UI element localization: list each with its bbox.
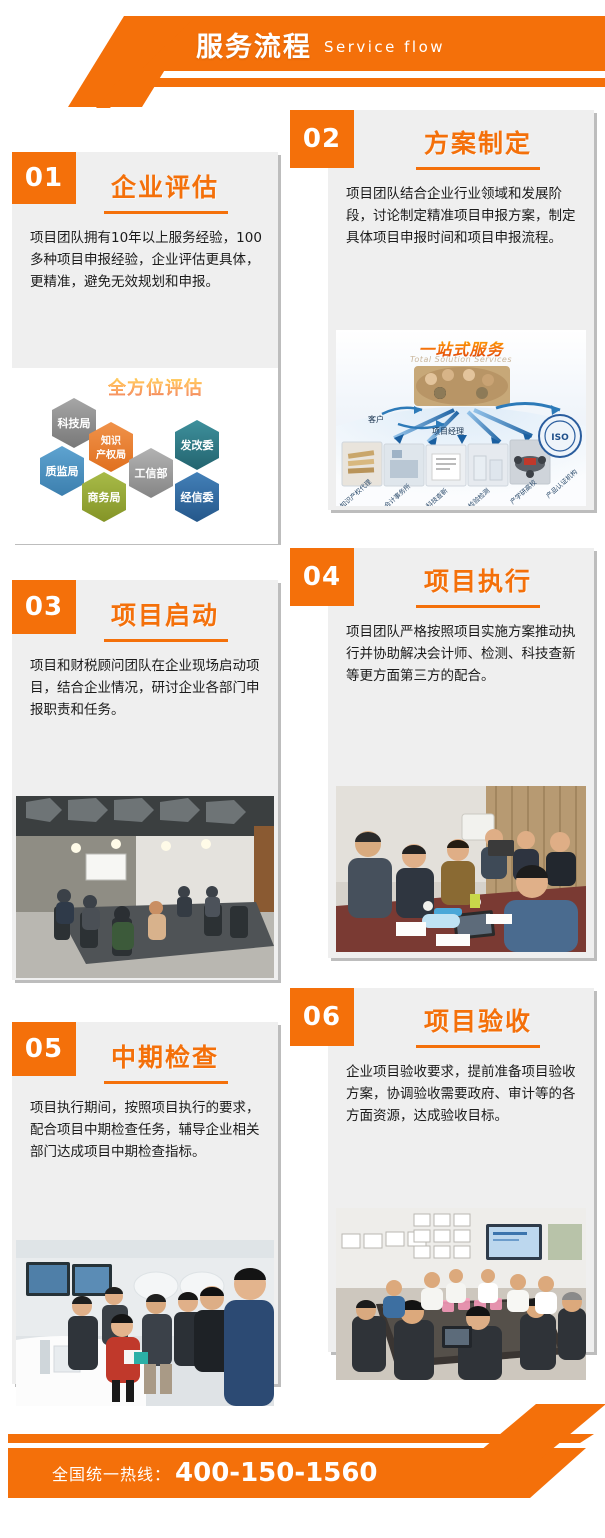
svg-text:工信部: 工信部 [135,466,168,480]
svg-text:发改委: 发改委 [180,438,215,452]
hex-node-shangwuju: 商务局 [82,472,126,522]
one-stop-label-customer: 客户 [368,414,384,425]
step-title: 方案制定 [328,110,594,160]
svg-text:ISO: ISO [551,433,569,443]
step-number-badge: 01 [12,152,76,204]
working-session-illustration [336,786,586,952]
hexagon-diagram: 科技局 知识 产权局 质监局 商务局 工信部 [12,368,278,544]
step-number-badge: 02 [290,110,354,168]
site-inspection-illustration [16,1240,274,1406]
svg-text:知识: 知识 [100,434,121,447]
one-stop-service-diagram: 一站式服务 Total Solution Services [336,330,586,506]
footer-hotline: 全国统一热线： 400-150-1560 [52,1448,378,1498]
header-underline [112,78,605,87]
hex-node-gongxinbu: 工信部 [129,448,173,498]
step-description: 项目和财税顾问团队在企业现场启动项目，结合企业情况，研讨企业各部门申报职责和任务… [12,642,278,734]
page-header: 服务流程 Service flow [0,0,605,110]
hex-node-fagaiwei: 发改委 [175,420,219,470]
svg-text:质监局: 质监局 [46,464,79,478]
svg-text:科技局: 科技局 [58,416,91,430]
working-session-photo [336,786,586,952]
hex-node-jingxinwei: 经信委 [175,472,219,522]
page-title: 服务流程 [196,25,312,64]
step-description: 项目执行期间，按照项目执行的要求，配合项目中期检查任务，辅导企业相关部门达成项目… [12,1084,278,1176]
site-inspection-photo [16,1240,274,1406]
step-number-badge: 03 [12,580,76,634]
step-description: 项目团队结合企业行业领域和发展阶段，讨论制定精准项目申报方案，制定具体项目申报时… [328,170,594,262]
step-title: 项目执行 [328,548,594,598]
step-number-badge: 05 [12,1022,76,1076]
hotline-number[interactable]: 400-150-1560 [175,1458,378,1488]
step-title: 项目验收 [328,988,594,1038]
step-description: 项目团队严格按照项目实施方案推动执行并协助解决会计师、检测、科技查新等更方面第三… [328,608,594,700]
meeting-room-illustration [16,796,274,978]
svg-text:经信委: 经信委 [181,490,215,504]
svg-text:商务局: 商务局 [88,490,121,504]
hexagon-diagram-title: 全方位评估 [108,374,203,400]
hex-node-zhijianju: 质监局 [40,446,84,496]
hotline-label: 全国统一热线： [52,1461,171,1485]
step-description: 项目团队拥有10年以上服务经验，100多种项目申报经验，企业评估更具体，更精准，… [12,214,278,306]
acceptance-meeting-photo [336,1208,586,1380]
step-number-badge: 06 [290,988,354,1046]
step-description: 企业项目验收要求，提前准备项目验收方案，协调验收需要政府、审计等的各方面资源，达… [328,1048,594,1140]
header-titles: 服务流程 Service flow [0,18,605,70]
meeting-room-photo [16,796,274,978]
page-subtitle: Service flow [324,38,445,56]
acceptance-meeting-illustration [336,1208,586,1380]
one-stop-label-pm: 项目经理 [432,426,464,437]
svg-text:产权局: 产权局 [96,448,126,461]
page-footer: 全国统一热线： 400-150-1560 [0,1396,605,1538]
service-flow-poster: 服务流程 Service flow 01 企业评估 项目团队拥有10年以上服务经… [0,0,605,1538]
step-number-badge: 04 [290,548,354,606]
